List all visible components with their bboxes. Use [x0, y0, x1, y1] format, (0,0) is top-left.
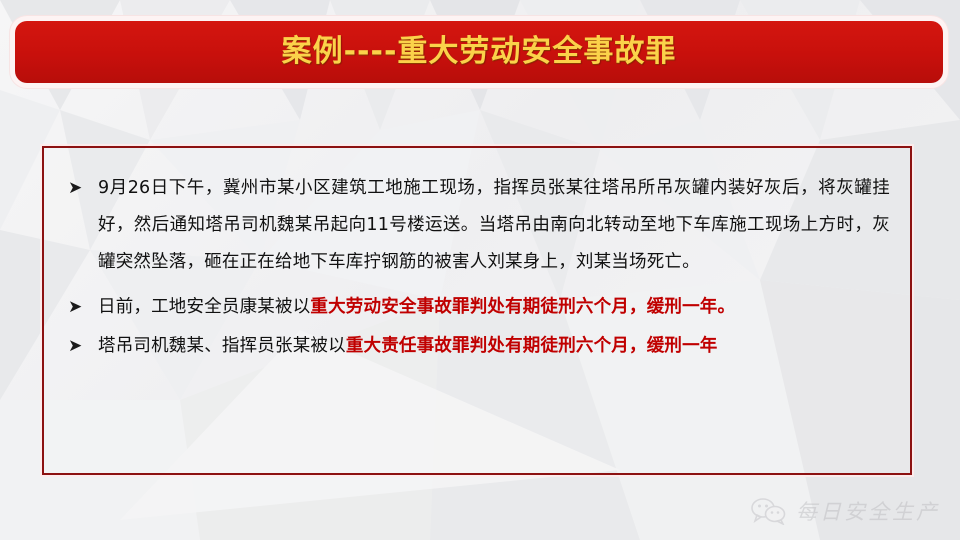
text-segment: 日前，工地安全员康某被以	[98, 297, 310, 317]
slide-title-banner: 案例----重大劳动安全事故罪	[15, 21, 943, 83]
list-item: ➤ 9月26日下午，冀州市某小区建筑工地施工现场，指挥员张某往塔吊所吊灰罐内装好…	[62, 170, 890, 281]
text-segment: 9月26日下午，冀州市某小区建筑工地施工现场，指挥员张某往塔吊所吊灰罐内装好灰后…	[98, 178, 890, 272]
content-box: ➤ 9月26日下午，冀州市某小区建筑工地施工现场，指挥员张某往塔吊所吊灰罐内装好…	[42, 146, 912, 475]
list-item-text: 塔吊司机魏某、指挥员张某被以重大责任事故罪判处有期徒刑六个月，缓刑一年	[98, 328, 890, 365]
wechat-icon	[750, 497, 788, 525]
text-segment-emphasis: 重大责任事故罪判处有期徒刑六个月，缓刑一年	[346, 336, 718, 356]
slide-canvas: 案例----重大劳动安全事故罪 ➤ 9月26日下午，冀州市某小区建筑工地施工现场…	[0, 0, 960, 540]
watermark-text: 每日安全生产	[796, 496, 940, 526]
bullet-arrow-icon: ➤	[62, 328, 98, 365]
list-item-text: 9月26日下午，冀州市某小区建筑工地施工现场，指挥员张某往塔吊所吊灰罐内装好灰后…	[98, 170, 890, 281]
bullet-arrow-icon: ➤	[62, 170, 98, 207]
list-item-text: 日前，工地安全员康某被以重大劳动安全事故罪判处有期徒刑六个月，缓刑一年。	[98, 289, 890, 326]
text-segment: 塔吊司机魏某、指挥员张某被以	[98, 336, 346, 356]
list-item: ➤ 日前，工地安全员康某被以重大劳动安全事故罪判处有期徒刑六个月，缓刑一年。	[62, 289, 890, 326]
text-segment-emphasis: 重大劳动安全事故罪判处有期徒刑六个月，缓刑一年。	[310, 297, 735, 317]
page-title: 案例----重大劳动安全事故罪	[282, 37, 677, 67]
list-item: ➤ 塔吊司机魏某、指挥员张某被以重大责任事故罪判处有期徒刑六个月，缓刑一年	[62, 328, 890, 365]
bullet-arrow-icon: ➤	[62, 289, 98, 326]
watermark: 每日安全生产	[750, 496, 940, 526]
